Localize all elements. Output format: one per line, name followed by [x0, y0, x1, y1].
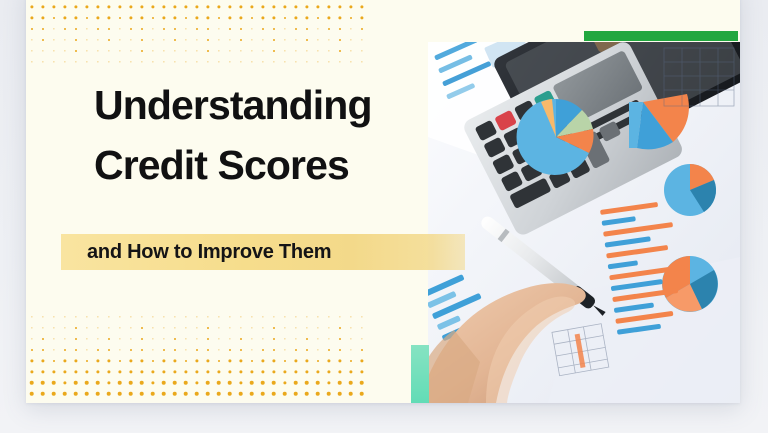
subtitle-highlight: and How to Improve Them: [61, 234, 465, 270]
hero-photo: [428, 42, 740, 403]
subtitle-text: and How to Improve Them: [87, 241, 331, 264]
title-line-1: Understanding: [94, 75, 454, 135]
green-accent-bar: [584, 31, 738, 41]
slide-canvas: Understanding Credit Scores and How to I…: [0, 0, 768, 433]
cream-panel: [26, 0, 428, 403]
title-card: Understanding Credit Scores and How to I…: [26, 0, 740, 403]
page-title: Understanding Credit Scores: [94, 75, 454, 195]
mint-accent-bar: [411, 345, 429, 403]
title-line-2: Credit Scores: [94, 135, 454, 195]
